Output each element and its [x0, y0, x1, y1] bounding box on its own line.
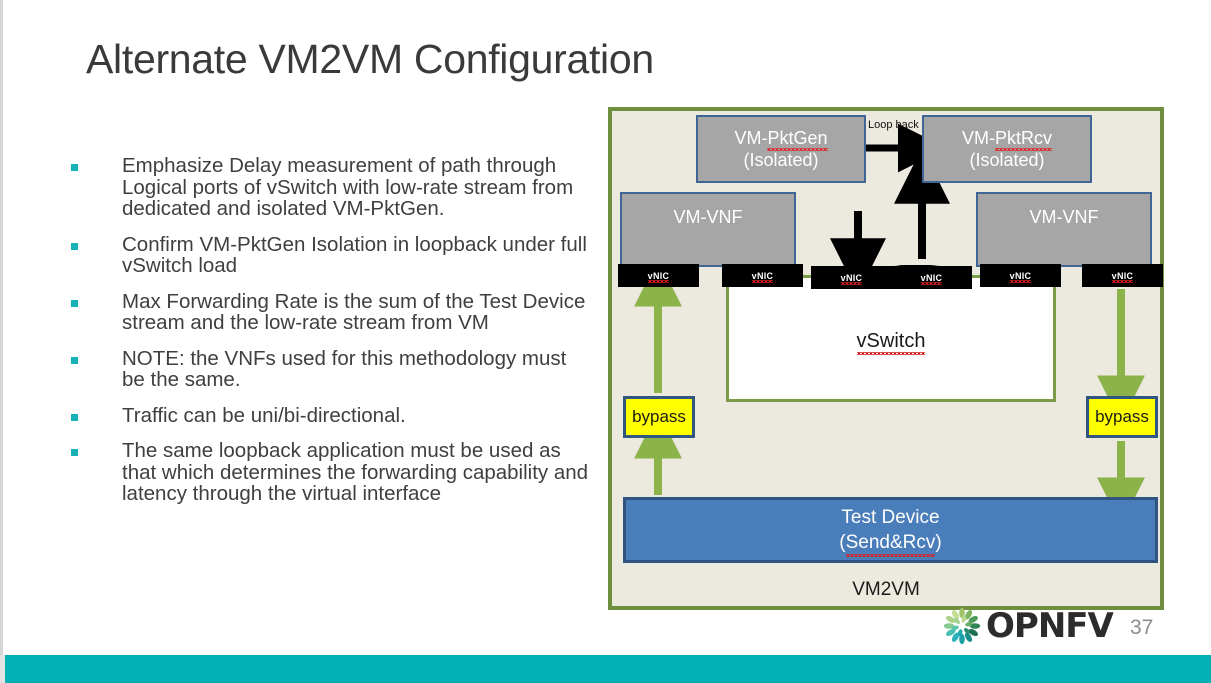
vm2vm-diagram: vSwitch VM-PktGen (Isolated) VM-PktRcv (…: [608, 107, 1164, 610]
bullet-text: Emphasize Delay measurement of path thro…: [122, 155, 592, 220]
vnic-chip-4[interactable]: vNIC: [891, 266, 972, 289]
vm-pktrcv-subtitle: (Isolated): [969, 149, 1044, 171]
bullet-marker-icon: [71, 357, 78, 364]
bullet-text: The same loopback application must be us…: [122, 440, 592, 505]
bypass-left-box[interactable]: bypass: [623, 396, 695, 438]
bullet-marker-icon: [71, 164, 78, 171]
vnic-chip-3[interactable]: vNIC: [811, 266, 892, 289]
vm-vnf-right-box[interactable]: VM-VNF: [976, 192, 1152, 267]
list-item: Emphasize Delay measurement of path thro…: [62, 155, 592, 220]
vnic-label: vNIC: [1112, 271, 1134, 281]
bullet-marker-icon: [71, 243, 78, 250]
bullet-marker-icon: [71, 300, 78, 307]
page-title: Alternate VM2VM Configuration: [86, 36, 654, 83]
bypass-left-label: bypass: [632, 407, 686, 427]
footer-accent-bar-cap: [0, 655, 5, 683]
vm-vnf-right-label: VM-VNF: [1030, 206, 1099, 228]
opnfv-flower-icon: [940, 606, 984, 646]
bypass-right-label: bypass: [1095, 407, 1149, 427]
bullet-text: NOTE: the VNFs used for this methodology…: [122, 348, 592, 391]
vm-pktgen-box[interactable]: VM-PktGen (Isolated): [696, 115, 866, 183]
list-item: Max Forwarding Rate is the sum of the Te…: [62, 291, 592, 334]
bullet-marker-icon: [71, 414, 78, 421]
left-edge-line: [0, 0, 3, 683]
vm-pktgen-subtitle: (Isolated): [743, 149, 818, 171]
opnfv-logo: OPNFV: [940, 606, 1113, 646]
vnic-chip-6[interactable]: vNIC: [1082, 264, 1163, 287]
bullet-text: Traffic can be uni/bi-directional.: [122, 405, 592, 427]
opnfv-wordmark: OPNFV: [986, 606, 1113, 646]
vm-vnf-left-box[interactable]: VM-VNF: [620, 192, 796, 267]
vnic-chip-2[interactable]: vNIC: [722, 264, 803, 287]
list-item: The same loopback application must be us…: [62, 440, 592, 505]
bullet-text: Max Forwarding Rate is the sum of the Te…: [122, 291, 592, 334]
vm-vnf-left-label: VM-VNF: [674, 206, 743, 228]
vnic-chip-5[interactable]: vNIC: [980, 264, 1061, 287]
vnic-label: vNIC: [921, 273, 943, 283]
bullet-text: Confirm VM-PktGen Isolation in loopback …: [122, 234, 592, 277]
slide-canvas: Alternate VM2VM Configuration Emphasize …: [0, 0, 1211, 683]
vnic-label: vNIC: [752, 271, 774, 281]
test-device-box[interactable]: Test Device (Send&Rcv): [623, 497, 1158, 563]
vm-pktrcv-title: VM-PktRcv: [962, 127, 1052, 149]
bullet-marker-icon: [71, 449, 78, 456]
vnic-chip-1[interactable]: vNIC: [618, 264, 699, 287]
vswitch-panel: vSwitch: [726, 275, 1056, 402]
vm-pktgen-title: VM-PktGen: [734, 127, 827, 149]
test-device-title: Test Device: [841, 505, 939, 530]
list-item: Traffic can be uni/bi-directional.: [62, 405, 592, 427]
list-item: NOTE: the VNFs used for this methodology…: [62, 348, 592, 391]
page-number: 37: [1130, 616, 1153, 640]
footer-accent-bar: [0, 655, 1211, 683]
list-item: Confirm VM-PktGen Isolation in loopback …: [62, 234, 592, 277]
vm-pktrcv-box[interactable]: VM-PktRcv (Isolated): [922, 115, 1092, 183]
loopback-label: Loop back: [868, 119, 919, 131]
bullet-list: Emphasize Delay measurement of path thro…: [62, 155, 592, 519]
vnic-label: vNIC: [1010, 271, 1032, 281]
vnic-label: vNIC: [841, 273, 863, 283]
test-device-subtitle: (Send&Rcv): [839, 530, 941, 555]
bypass-right-box[interactable]: bypass: [1086, 396, 1158, 438]
vswitch-label: vSwitch: [729, 330, 1053, 353]
vm2vm-container-label: VM2VM: [612, 579, 1160, 601]
vnic-label: vNIC: [648, 271, 670, 281]
vswitch-label-text: vSwitch: [857, 330, 926, 353]
